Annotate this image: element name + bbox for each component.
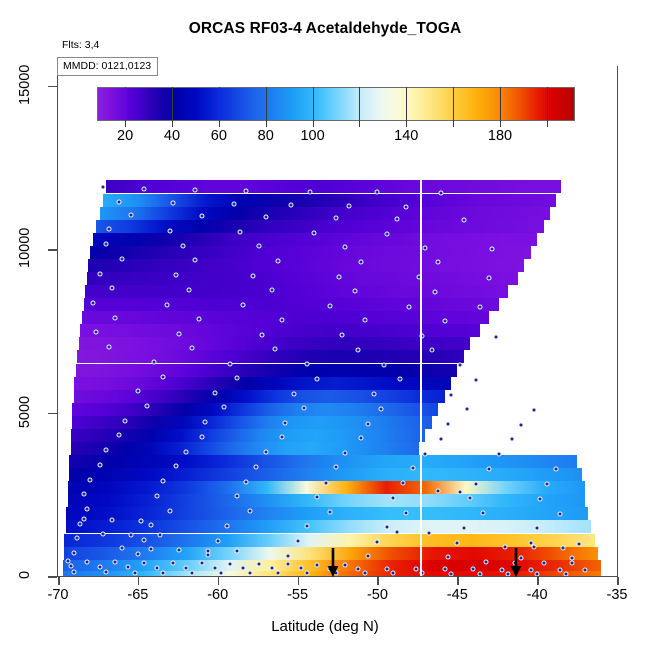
colorbar-tick — [313, 87, 314, 121]
x-tick — [377, 577, 379, 585]
colorbar-tick — [266, 87, 267, 121]
x-tick — [298, 577, 300, 585]
y-tick — [48, 86, 57, 88]
page-title: ORCAS RF03-4 Acetaldehyde_TOGA — [0, 20, 650, 38]
x-tick-label: -55 — [287, 587, 308, 603]
x-tick — [58, 577, 60, 585]
colorbar-tick — [453, 87, 454, 121]
x-tick-label: -50 — [367, 587, 388, 603]
arrow-marker — [326, 548, 340, 578]
x-tick-label: -45 — [447, 587, 468, 603]
colorbar-tick-label: 20 — [117, 128, 133, 144]
colorbar-tick — [406, 87, 407, 121]
y-tick-label: 15000 — [17, 65, 33, 105]
x-tick — [617, 577, 619, 585]
x-tick-label: -40 — [527, 587, 548, 603]
y-tick-label: 0 — [17, 555, 33, 595]
colorbar-tick-label: 140 — [394, 128, 418, 144]
x-tick — [457, 577, 459, 585]
mmdd-annotation: MMDD: 0121,0123 — [57, 57, 158, 76]
y-tick-label: 5000 — [17, 392, 33, 432]
colorbar-tick-label: 80 — [258, 128, 274, 144]
colorbar-tick — [125, 87, 126, 121]
colorbar-tick — [172, 87, 173, 121]
x-tick — [138, 577, 140, 585]
colorbar-tick-outer — [547, 121, 548, 127]
colorbar-tick — [547, 87, 548, 121]
colorbar-tick-outer — [219, 121, 220, 127]
y-tick-label: 10000 — [17, 228, 33, 268]
y-tick — [48, 576, 57, 578]
colorbar-gradient — [97, 87, 575, 121]
colorbar-tick — [500, 87, 501, 121]
colorbar-tick-outer — [266, 121, 267, 127]
colorbar-tick-outer — [313, 121, 314, 127]
colorbar-tick-label: 60 — [211, 128, 227, 144]
colorbar-tick — [359, 87, 360, 121]
x-tick — [218, 577, 220, 585]
colorbar-tick-label: 40 — [164, 128, 180, 144]
colorbar-tick — [219, 87, 220, 121]
arrow-marker — [509, 548, 523, 578]
colorbar-tick-outer — [453, 121, 454, 127]
colorbar-tick-outer — [359, 121, 360, 127]
colorbar-tick-outer — [172, 121, 173, 127]
x-tick-label: -65 — [127, 587, 148, 603]
flights-annotation: Flts: 3,4 — [62, 39, 99, 51]
x-tick-label: -35 — [607, 587, 628, 603]
colorbar-tick-outer — [500, 121, 501, 127]
x-tick-label: -70 — [48, 587, 69, 603]
y-tick — [48, 413, 57, 415]
colorbar-tick-label: 100 — [300, 128, 324, 144]
colorbar-tick-label: 180 — [488, 128, 512, 144]
x-tick — [537, 577, 539, 585]
y-axis-label: Altitude (m) — [0, 247, 1, 324]
x-axis-label: Latitude (deg N) — [0, 618, 650, 635]
axes-frame — [57, 66, 618, 577]
colorbar-tick-outer — [406, 121, 407, 127]
colorbar-tick-outer — [125, 121, 126, 127]
colorbar[interactable]: 20406080100140180 — [97, 87, 575, 121]
y-tick — [48, 249, 57, 251]
x-tick-label: -60 — [207, 587, 228, 603]
